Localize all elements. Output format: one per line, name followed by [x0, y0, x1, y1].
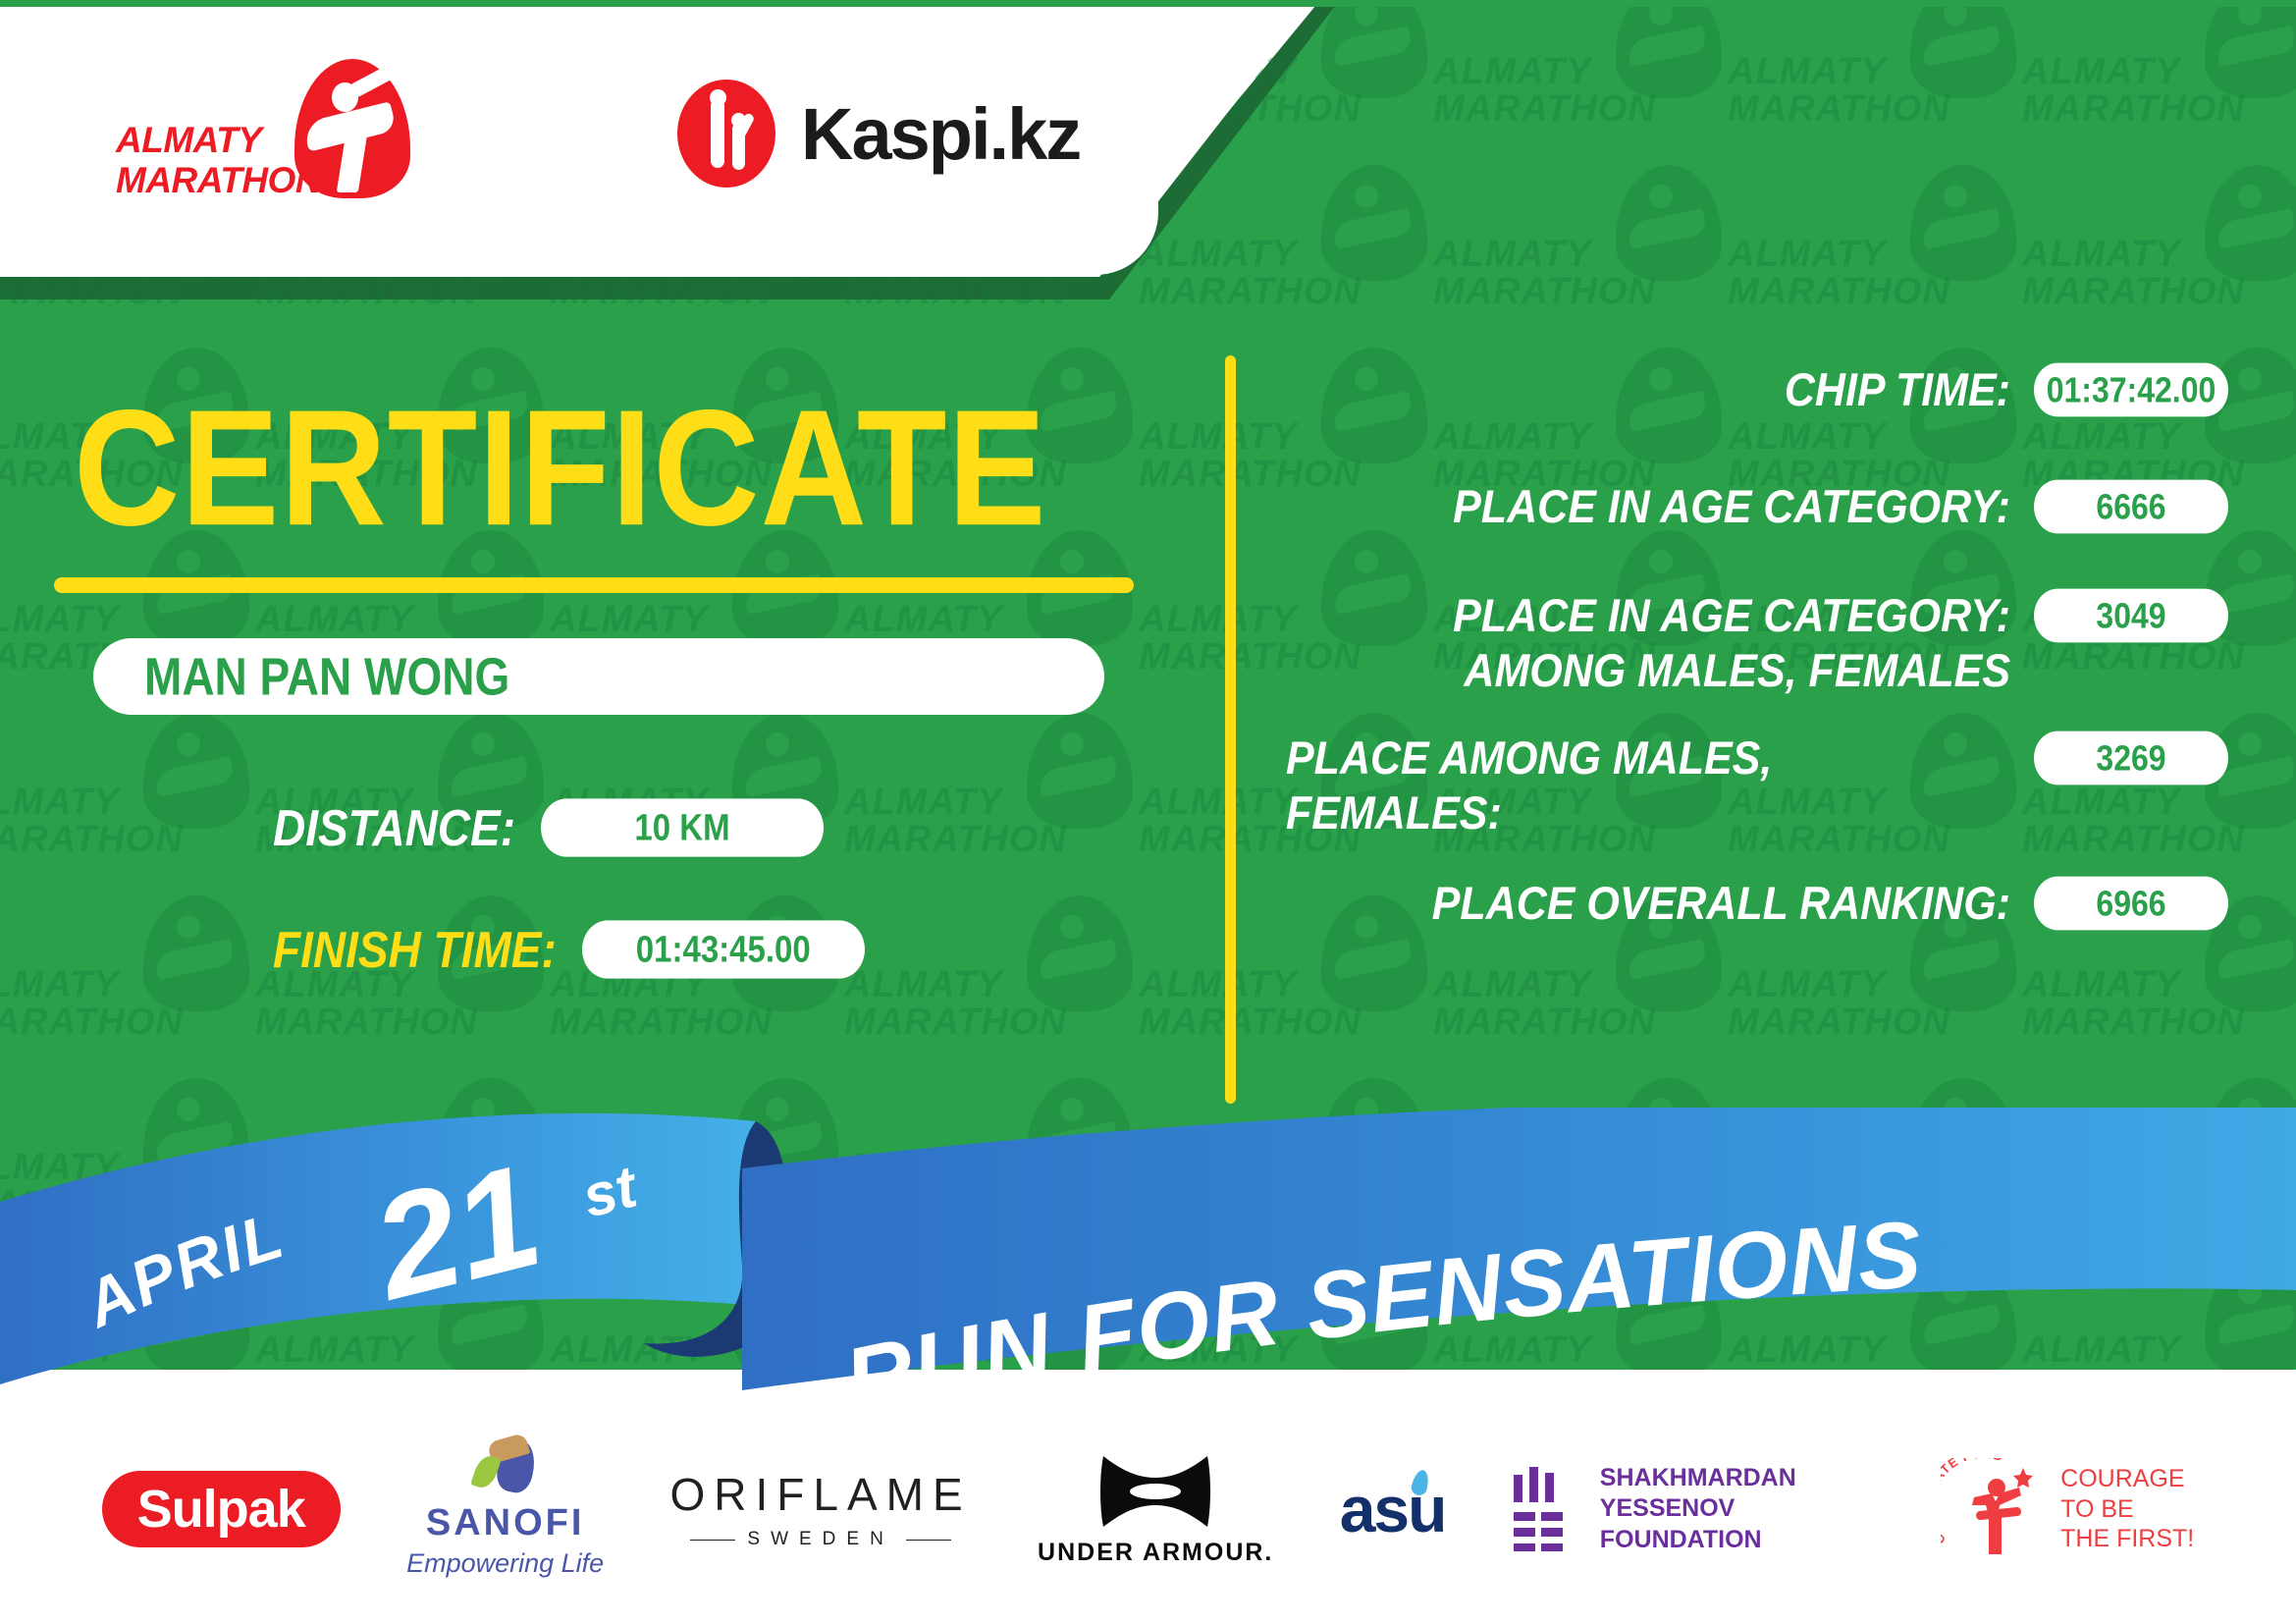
courage-fund-text: COURAGE TO BE THE FIRST!: [2060, 1464, 2194, 1554]
watermark-runner-icon: [1616, 0, 1722, 98]
watermark-runner-icon: [1616, 165, 1722, 281]
watermark-line-1: ALMATY: [0, 784, 120, 821]
kaspi-people-icon: [677, 80, 775, 188]
yessenov-logo-text: SHAKHMARDAN YESSENOV FOUNDATION: [1600, 1463, 1875, 1555]
watermark-line-2: MARATHON: [1433, 90, 1656, 128]
result-row-place-age-category-among: PLACE IN AGE CATEGORY: AMONG MALES, FEMA…: [1286, 589, 2228, 688]
watermark-line-1: ALMATY: [1728, 236, 1887, 273]
watermark-line-1: ALMATY: [844, 784, 1003, 821]
place-among-males-females-value: 3269: [2034, 731, 2228, 785]
distance-value: 10 KM: [541, 798, 824, 856]
watermark-runner-icon: [2205, 165, 2296, 281]
label-line-2: AMONG MALES, FEMALES: [1286, 644, 2010, 699]
watermark-line-1: ALMATY: [1139, 966, 1298, 1003]
finish-time-value: 01:43:45.00: [582, 920, 865, 978]
watermark-line-2: MARATHON: [0, 273, 184, 310]
result-row-place-among-males-females: PLACE AMONG MALES, FEMALES: 3269: [1286, 731, 2228, 831]
watermark-tile: ALMATYMARATHON: [2022, 0, 2296, 163]
watermark-line-2: MARATHON: [2022, 1003, 2245, 1041]
result-row-place-overall-ranking: PLACE OVERALL RANKING: 6966: [1286, 877, 2228, 927]
sponsor-courage-fund: CORPORATE FUND COURAGE TO BE THE FIRST!: [1941, 1458, 2194, 1560]
watermark-tile: ALMATYMARATHON: [844, 711, 1139, 893]
label-line-1: PLACE IN AGE CATEGORY:: [1286, 589, 2010, 644]
top-accent-rule: [0, 0, 2296, 7]
oriflame-tagline: SWEDEN: [670, 1529, 972, 1550]
watermark-line-2: MARATHON: [550, 273, 773, 310]
watermark-line-1: ALMATY: [1433, 236, 1592, 273]
kaspi-logo-text: Kaspi.kz: [801, 92, 1080, 176]
watermark-runner-icon: [143, 895, 249, 1011]
sponsor-strip: Sulpak SANOFI Empowering Life ORIFLAME S…: [0, 1394, 2296, 1624]
almaty-marathon-logo-text: ALMATY MARATHON: [116, 120, 321, 201]
watermark-line-2: MARATHON: [1728, 273, 1950, 310]
watermark-tile: ALMATYMARATHON: [1433, 0, 1728, 163]
watermark-runner-icon: [1910, 0, 2016, 98]
vertical-divider: [1225, 355, 1236, 1104]
watermark-line-2: MARATHON: [1728, 1003, 1950, 1041]
watermark-line-1: ALMATY: [1139, 418, 1298, 456]
courage-line-2: TO BE: [2060, 1494, 2194, 1525]
sanofi-logo-text: SANOFI: [426, 1502, 585, 1544]
yessenov-mark-icon: [1512, 1467, 1576, 1551]
watermark-line-1: ALMATY: [1433, 53, 1592, 90]
sponsor-under-armour: UNDER ARMOUR.: [1038, 1452, 1273, 1567]
label-line-1: PLACE AMONG MALES,: [1286, 731, 2010, 786]
watermark-line-1: ALMATY: [2022, 53, 2181, 90]
place-among-males-females-label: PLACE AMONG MALES, FEMALES:: [1286, 731, 2034, 841]
watermark-line-1: ALMATY: [2022, 236, 2181, 273]
almaty-logo-line1: ALMATY: [116, 120, 321, 160]
place-age-category-label: PLACE IN AGE CATEGORY:: [1286, 480, 2034, 535]
certificate-page: ALMATYMARATHONALMATYMARATHONALMATYMARATH…: [0, 0, 2296, 1624]
watermark-line-1: ALMATY: [1139, 601, 1298, 638]
watermark-runner-icon: [1321, 0, 1427, 98]
watermark-runner-icon: [1027, 713, 1133, 829]
chip-time-value: 01:37:42.00: [2034, 363, 2228, 417]
label-line-2: FEMALES:: [1286, 786, 2010, 841]
watermark-line-1: ALMATY: [550, 601, 709, 638]
watermark-line-2: MARATHON: [550, 1003, 773, 1041]
watermark-runner-icon: [1321, 165, 1427, 281]
watermark-line-2: MARATHON: [1139, 273, 1362, 310]
results-column: CHIP TIME: 01:37:42.00 PLACE IN AGE CATE…: [1286, 363, 2228, 974]
chip-time-label: CHIP TIME:: [1286, 363, 2034, 418]
place-overall-ranking-label: PLACE OVERALL RANKING:: [1286, 877, 2034, 932]
place-age-category-among-value: 3049: [2034, 589, 2228, 643]
page-title: CERTIFICATE: [74, 385, 1047, 550]
distance-label: DISTANCE:: [273, 798, 515, 857]
watermark-runner-icon: [1910, 165, 2016, 281]
watermark-line-1: ALMATY: [1139, 784, 1298, 821]
asu-logo-text: asu: [1340, 1472, 1446, 1546]
place-overall-ranking-value: 6966: [2034, 877, 2228, 931]
watermark-line-2: MARATHON: [844, 273, 1067, 310]
finish-time-label: FINISH TIME:: [273, 920, 557, 979]
watermark-line-1: ALMATY: [0, 601, 120, 638]
watermark-tile: ALMATYMARATHON: [2022, 163, 2296, 346]
watermark-tile: ALMATYMARATHON: [1139, 163, 1433, 346]
watermark-tile: ALMATYMARATHON: [0, 893, 255, 1076]
watermark-tile: ALMATYMARATHON: [844, 893, 1139, 1076]
watermark-tile: ALMATYMARATHON: [0, 711, 255, 893]
watermark-line-2: MARATHON: [1433, 273, 1656, 310]
sponsor-sanofi: SANOFI Empowering Life: [406, 1439, 604, 1579]
place-age-category-value: 6666: [2034, 480, 2228, 534]
kaspi-logo: Kaspi.kz: [677, 77, 1080, 190]
watermark-line-2: MARATHON: [1433, 1003, 1656, 1041]
watermark-runner-icon: [1027, 895, 1133, 1011]
title-underline: [54, 577, 1134, 593]
watermark-line-2: MARATHON: [844, 1003, 1067, 1041]
watermark-line-2: MARATHON: [2022, 90, 2245, 128]
sanofi-mark-icon: [469, 1439, 542, 1498]
watermark-line-2: MARATHON: [1728, 90, 1950, 128]
sponsor-oriflame: ORIFLAME SWEDEN: [670, 1468, 972, 1550]
almaty-logo-line2: MARATHON: [116, 160, 321, 200]
watermark-tile: ALMATYMARATHON: [1433, 163, 1728, 346]
watermark-line-2: MARATHON: [0, 1003, 184, 1041]
watermark-line-2: MARATHON: [2022, 273, 2245, 310]
courage-line-3: THE FIRST!: [2060, 1524, 2194, 1554]
watermark-runner-icon: [143, 713, 249, 829]
watermark-line-2: MARATHON: [0, 821, 184, 858]
event-ribbon: APRIL 21 st RUN FOR SENSATIONS: [0, 1108, 2296, 1422]
sulpak-logo: Sulpak: [102, 1471, 341, 1547]
result-row-chip-time: CHIP TIME: 01:37:42.00: [1286, 363, 2228, 413]
watermark-runner-icon: [2205, 0, 2296, 98]
under-armour-logo-text: UNDER ARMOUR.: [1038, 1539, 1273, 1567]
courage-line-1: COURAGE: [2060, 1464, 2194, 1494]
watermark-line-1: ALMATY: [1728, 53, 1887, 90]
watermark-tile: ALMATYMARATHON: [1728, 163, 2022, 346]
watermark-line-2: MARATHON: [255, 1003, 478, 1041]
athlete-name-field: MAN PAN WONG: [93, 638, 1104, 715]
athlete-name-value: MAN PAN WONG: [144, 646, 509, 708]
sponsor-sulpak: Sulpak: [102, 1471, 341, 1547]
finish-time-row: FINISH TIME: 01:43:45.00: [273, 923, 865, 976]
under-armour-icon: [1082, 1452, 1229, 1531]
watermark-line-2: MARATHON: [255, 273, 478, 310]
oriflame-logo-text: ORIFLAME: [670, 1468, 972, 1521]
sponsor-asu: asu: [1340, 1472, 1446, 1546]
watermark-line-2: MARATHON: [1139, 1003, 1362, 1041]
watermark-line-1: ALMATY: [844, 601, 1003, 638]
watermark-tile: ALMATYMARATHON: [1728, 0, 2022, 163]
watermark-line-2: MARATHON: [844, 821, 1067, 858]
place-age-category-among-label: PLACE IN AGE CATEGORY: AMONG MALES, FEMA…: [1286, 589, 2034, 699]
asu-logo-label: asu: [1340, 1473, 1446, 1545]
watermark-line-1: ALMATY: [255, 601, 414, 638]
sanofi-tagline: Empowering Life: [406, 1548, 604, 1579]
watermark-line-1: ALMATY: [844, 966, 1003, 1003]
courage-fund-icon: CORPORATE FUND: [1941, 1458, 2047, 1560]
distance-row: DISTANCE: 10 KM: [273, 801, 824, 854]
sponsor-yessenov-foundation: SHAKHMARDAN YESSENOV FOUNDATION: [1512, 1463, 1875, 1555]
result-row-place-age-category: PLACE IN AGE CATEGORY: 6666: [1286, 480, 2228, 530]
almaty-marathon-logo: ALMATY MARATHON: [116, 59, 440, 226]
watermark-line-1: ALMATY: [0, 966, 120, 1003]
watermark-line-1: ALMATY: [1139, 236, 1298, 273]
